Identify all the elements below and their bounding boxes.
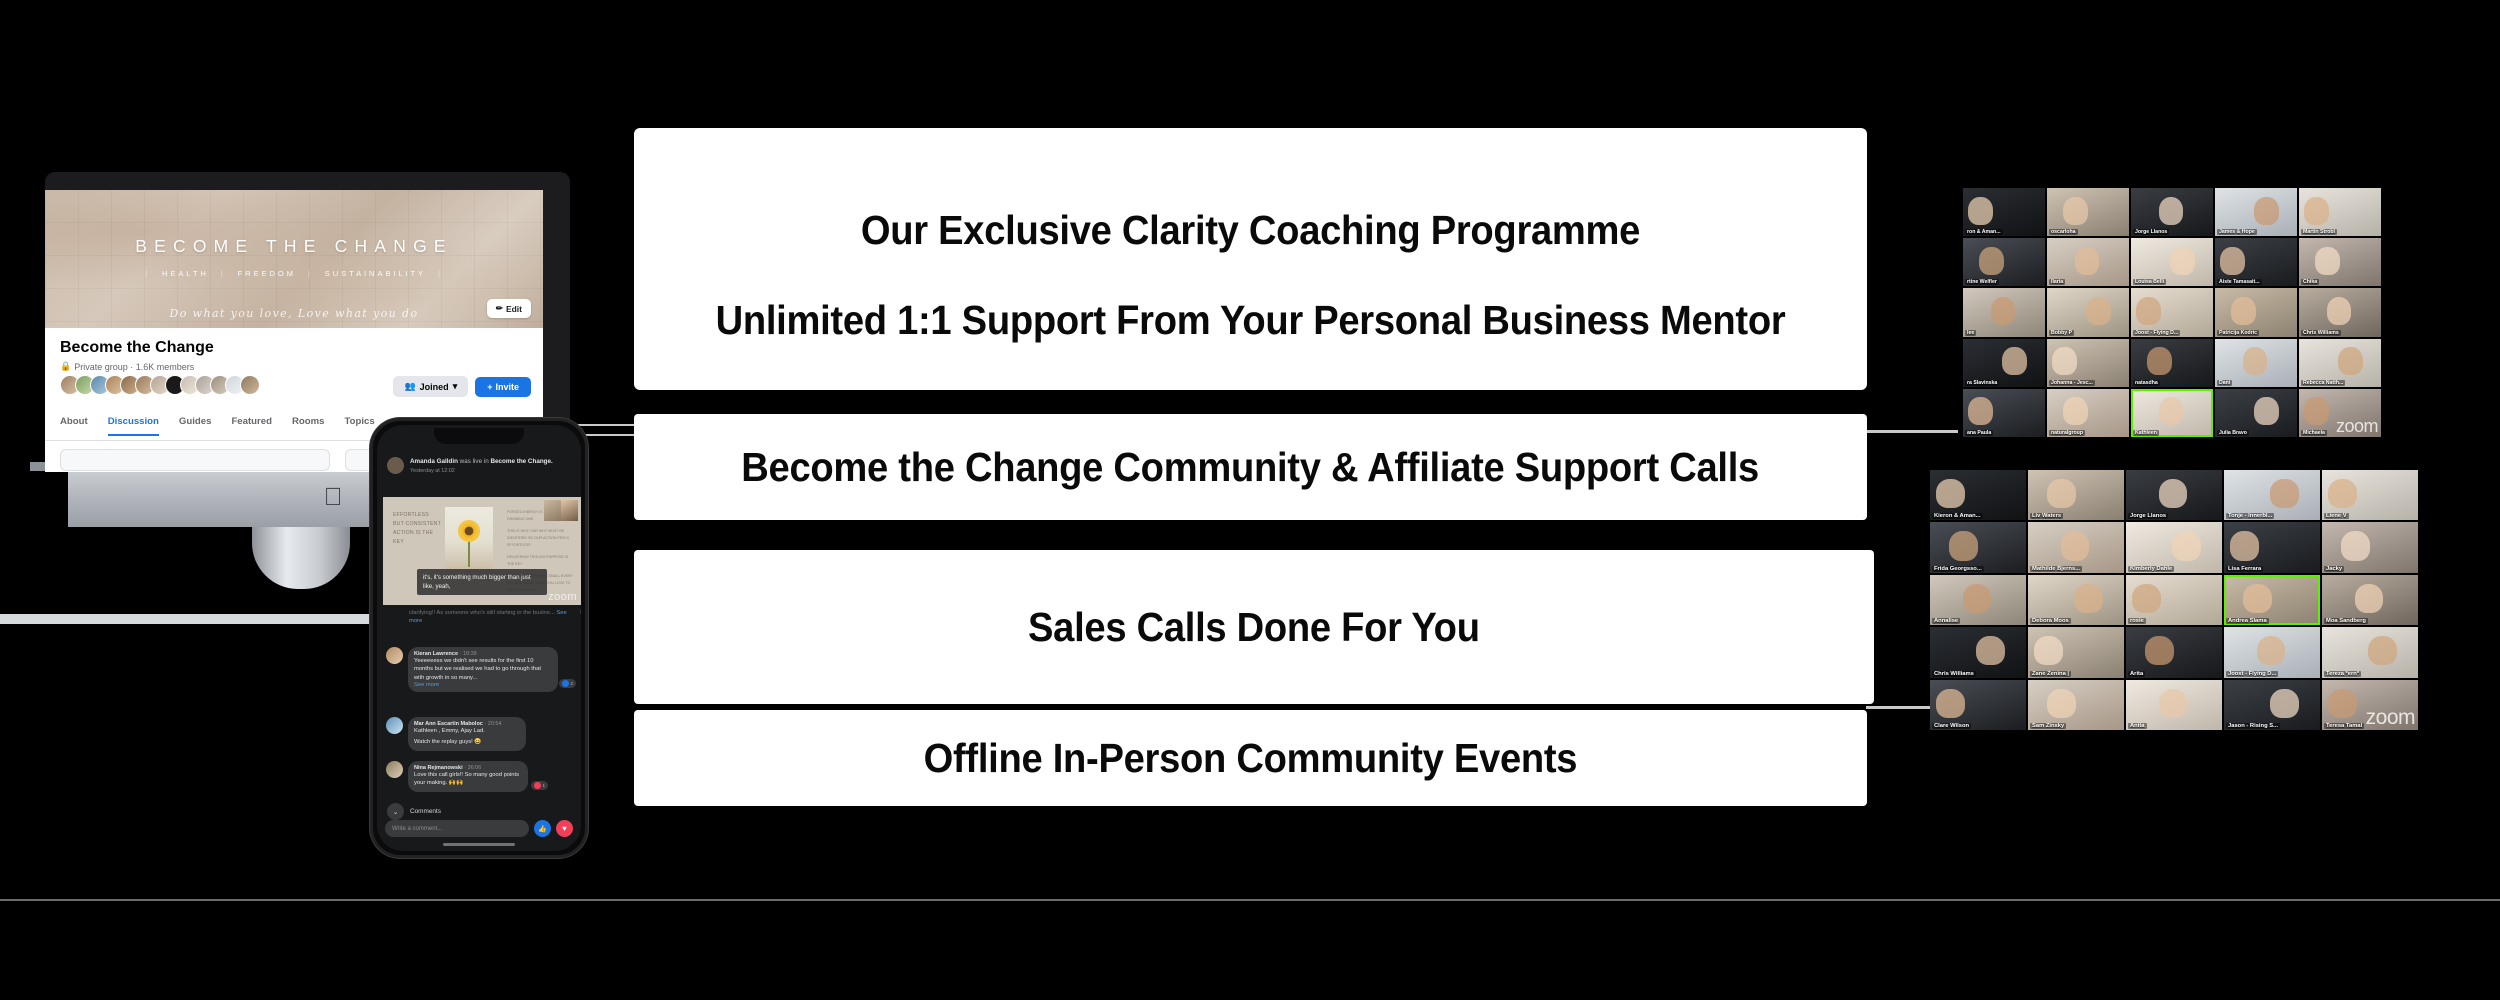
participant-silhouette [2159,689,2188,718]
heart-reaction-icon [534,782,541,789]
zoom-call-grid-bottom[interactable]: Kieron & Aman...Liv WatersJorge LlanosTo… [1930,470,2418,730]
slide-headline: EFFORTLESS BUT CONSISTENT ACTION IS THE … [393,511,441,547]
zoom-participant-tile[interactable]: Joost - Flying D... [2224,627,2320,677]
participant-name: lee [1965,330,1976,336]
participant-name: Frida Georgsso... [1932,566,1984,572]
participant-name: Lisa Ferrara [2226,566,2263,572]
post-author-name[interactable]: Amanda Galldin [410,458,458,465]
zoom-participant-tile[interactable]: Patricija Kodric [2215,288,2297,336]
comments-label: Comments [410,808,441,815]
comment-text: clarifying!! As someone who's still star… [409,609,575,626]
zoom-participant-tile[interactable]: Ilaria [2047,238,2129,286]
participant-name: Patricija Kodric [2217,330,2259,336]
like-reaction-icon [562,680,569,687]
participant-silhouette [2145,636,2174,665]
list-item: Kieran Lawrence · 18:38 Yeeeeeess we did… [386,647,558,692]
participant-silhouette [2338,347,2363,375]
participant-silhouette [2368,636,2397,665]
participant-silhouette [2270,479,2299,508]
participant-silhouette [2328,479,2357,508]
reaction-count: 2 [570,681,573,686]
post-action-text: was live in [458,458,491,465]
video-caption: it's, it's something much bigger than ju… [417,569,547,595]
zoom-participant-tile[interactable]: Mathilde Bjerns... [2028,522,2124,572]
participant-silhouette [2063,397,2088,425]
participant-silhouette [2002,347,2027,375]
cover-edit-button[interactable]: ✏ Edit [487,299,531,318]
zoom-participant-tile[interactable]: Tonje - Innerbl... [2224,470,2320,520]
zoom-participant-tile[interactable]: Martin Strobl [2299,188,2381,236]
participant-silhouette [2270,689,2299,718]
post-group-name[interactable]: Become the Change. [490,458,552,465]
zoom-participant-tile[interactable]: Chris Williams [1930,627,2026,677]
participant-name: Chika [2301,279,2319,285]
zoom-participant-tile[interactable]: Zane Zenina | [2028,627,2124,677]
participant-silhouette [2159,397,2184,425]
participant-name: Teresa Tamal [2324,723,2364,729]
zoom-participant-tile[interactable]: Andrea Slama [2224,575,2320,625]
participant-silhouette [2034,636,2063,665]
zoom-participant-tile[interactable]: Joost - Flying D... [2131,288,2213,336]
people-icon: 👥 [404,381,415,392]
participant-silhouette [2243,584,2272,613]
reaction-pill[interactable]: 6 [580,607,581,616]
participant-name: rtine Welfler [1965,279,1999,285]
pillar-sep-2: | [308,269,313,278]
participant-silhouette [2074,584,2103,613]
group-nav-tabs: About Discussion Guides Featured Rooms T… [60,416,408,436]
zoom-participant-tile[interactable]: Bobby P [2047,288,2129,336]
zoom-participant-tile[interactable]: James & Hope [2215,188,2297,236]
participant-silhouette [2304,197,2329,225]
zoom-participant-tile[interactable]: rtine Welfler [1963,238,2045,286]
participant-name: Liene V [2324,513,2349,519]
tab-about[interactable]: About [60,416,88,436]
cover-tagline: Do what you love, Love what you do [45,307,543,320]
participant-silhouette [1936,479,1965,508]
zoom-participant-tile[interactable]: Teresa Tamal [2322,680,2418,730]
edit-label: Edit [506,304,522,314]
zoom-participant-tile[interactable]: Jacky [2322,522,2418,572]
comment-bubble: Mar Ann Escartin Maboloc · 20:54 Kathlee… [408,717,526,751]
phone-screen: Amanda Galldin was live in Become the Ch… [377,425,581,851]
comment-composer-row: Write a comment... 👍 ♥ [385,820,573,837]
apple-logo-icon:  [322,485,344,511]
participant-name: Chris Williams [2301,330,2341,336]
zoom-participant-tile[interactable]: Jorge Llanos [2131,188,2213,236]
participant-name: Michaela [2301,430,2327,436]
feature-card-title: Become the Change Community & Affiliate … [742,444,1760,491]
zoom-participant-tile[interactable]: Liv Waters [2028,470,2124,520]
participant-silhouette [1976,636,2005,665]
group-name: Become the Change [60,339,214,357]
zoom-participant-tile[interactable]: Sam Zinsky [2028,680,2124,730]
zoom-participant-tile[interactable]: Clare Wilson [1930,680,2026,730]
slide-bullet-2: DELIVERING TROUGH PURPOSE IS THE KEY [507,554,573,568]
participant-name: Liv Waters [2030,513,2063,519]
participant-silhouette [2315,247,2340,275]
participant-name: Aiste Tamasait... [2217,279,2262,285]
participant-silhouette [1968,397,1993,425]
avatar[interactable] [386,647,403,664]
participant-name: Clare Wilson [1932,723,1971,729]
chevron-down-icon: ⌄ [387,803,404,820]
pillar-sep-0: | [145,269,150,278]
pillar-sustainability: SUSTAINABILITY [325,269,426,278]
participant-silhouette [2047,689,2076,718]
zoom-participant-tile[interactable]: Kieron & Aman... [1930,470,2026,520]
joined-button[interactable]: 👥 Joined ▾ [393,376,468,397]
participant-name: Martin Strobl [2301,229,2337,235]
participant-silhouette [2328,689,2357,718]
participant-silhouette [2327,297,2352,325]
participant-silhouette [2231,297,2256,325]
participant-silhouette [2159,197,2184,225]
participant-name: Rebecca Natth... [2301,380,2345,386]
participant-name: ron & Aman... [1965,229,2003,235]
feature-card-offline-events[interactable]: Offline In-Person Community Events [634,710,1867,806]
participant-silhouette [2086,297,2111,325]
group-meta-text: Private group · 1.6K members [74,362,194,372]
group-meta: 🔒 Private group · 1.6K members [60,361,194,372]
pillar-sep-3: | [438,269,443,278]
participant-silhouette [2147,347,2172,375]
zoom-participant-tile[interactable]: rosie [2126,575,2222,625]
participant-silhouette [1979,247,2004,275]
see-more-link[interactable]: See more [414,682,552,688]
list-item: Nina Rejmanowski · 36:06 Love this call … [386,761,528,792]
post-author-avatar[interactable] [387,457,404,474]
imac-base-shelf [0,614,400,624]
live-video-player[interactable]: EFFORTLESS BUT CONSISTENT ACTION IS THE … [383,497,581,605]
reaction-count: 1 [542,783,545,788]
participant-silhouette [2132,584,2161,613]
comment-bubble: Nina Rejmanowski · 36:06 Love this call … [408,761,528,792]
participant-silhouette [2063,197,2088,225]
zoom-participant-tile[interactable]: Liene V [2322,470,2418,520]
zoom-participant-tile[interactable]: ra Slavinska [1963,339,2045,387]
zoom-participant-tile[interactable]: Debora Moos [2028,575,2124,625]
zoom-participant-tile[interactable]: Aiste Tamasait... [2215,238,2297,286]
participant-silhouette [1968,197,1993,225]
participant-name: Andrea Slama [2226,618,2269,624]
participant-name: James & Hope [2217,229,2257,235]
comment-text-line1: clarifying!! As someone who's [409,610,485,616]
feature-card-title: Offline In-Person Community Events [924,735,1578,782]
feature-card-title: Our Exclusive Clarity Coaching Programme [677,207,1824,254]
zoom-participant-tile[interactable]: lee [1963,288,2045,336]
participant-name: Jacky [2324,566,2344,572]
participant-silhouette [2136,297,2161,325]
feature-card-clarity-and-mentor[interactable]: Our Exclusive Clarity Coaching Programme… [634,128,1867,390]
participant-name: Chris Williams [1932,671,1976,677]
zoom-participant-tile[interactable]: Anita [2126,680,2222,730]
pillar-sep-1: | [221,269,226,278]
tab-discussion[interactable]: Discussion [108,416,159,436]
feature-card-sales-calls[interactable]: Sales Calls Done For You [634,550,1874,704]
pillar-health: HEALTH [162,269,209,278]
post-byline: Amanda Galldin was live in Become the Ch… [410,457,553,466]
zoom-call-grid-top[interactable]: ron & Aman...oscarlohaJorge LlanosJames … [1963,188,2381,437]
home-indicator [443,843,515,846]
tab-featured[interactable]: Featured [231,416,272,436]
zoom-participant-tile[interactable]: naturalgroup [2047,389,2129,437]
participant-name: Dani [2217,380,2232,386]
comment-text: Kathleen , Emmy, Ajay Lad. [414,727,520,735]
participant-name: Zane Zenina | [2030,671,2071,677]
participant-name: Tereza *ern* [2324,671,2361,677]
participant-name: Ilaria [2049,279,2065,285]
participant-name: Sam Zinsky [2030,723,2066,729]
participant-name: Kimberly Dahle [2128,566,2174,572]
participant-name: rosie [2128,618,2146,624]
slide-image [445,507,493,569]
comment-text: Love this call girls!! So many good poin… [414,771,522,788]
flower-stem [468,539,470,567]
feature-card-title: Sales Calls Done For You [1028,604,1480,651]
zoom-participant-tile[interactable]: Chris Williams [2299,288,2381,336]
lock-icon: 🔒 [60,361,71,372]
zoom-participant-tile[interactable]: Rebecca Natth... [2299,339,2381,387]
participant-silhouette [2047,479,2076,508]
participant-name: Jorge Llanos [2133,229,2169,235]
participant-name: natasdha [2133,380,2160,386]
invite-label: Invite [495,382,519,392]
chevron-down-icon: ▾ [453,381,458,392]
participant-name: Annalise [1932,618,1960,624]
phone-post-header: Amanda Galldin was live in Become the Ch… [387,457,571,474]
participant-silhouette [2159,479,2188,508]
participant-silhouette [2341,531,2370,560]
zoom-participant-tile[interactable]: Dani [2215,339,2297,387]
zoom-participant-tile[interactable]: Arita [2126,627,2222,677]
participant-name: Joost - Flying D... [2133,330,2180,336]
connector-line-right-a [1866,430,1958,433]
zoom-participant-tile[interactable]: natasdha [2131,339,2213,387]
post-composer[interactable] [60,449,330,471]
avatar[interactable] [386,761,403,778]
zoom-participant-tile[interactable]: Johanna - Jesc... [2047,339,2129,387]
participant-name: Moa Sandberg [2324,618,2368,624]
zoom-participant-tile[interactable]: Kimberly Dahle [2126,522,2222,572]
comment-bubble: clarifying!! As someone who's still star… [409,609,575,626]
phone-mockup: Amanda Galldin was live in Become the Ch… [370,418,588,858]
participant-name: Kathleen [2133,430,2159,436]
participant-silhouette [2220,247,2245,275]
participant-name: Jason - Rising S... [2226,723,2280,729]
participant-name: Jorge Llanos [2128,513,2168,519]
avatar[interactable] [386,717,403,734]
zoom-participant-tile[interactable]: Julia Bravo [2215,389,2297,437]
tab-rooms[interactable]: Rooms [292,416,325,436]
comment-bubble: Kieran Lawrence · 18:38 Yeeeeeess we did… [408,647,558,692]
participant-silhouette [2243,347,2268,375]
participant-name: Louisa Belli [2133,279,2166,285]
zoom-participant-tile[interactable]: Moa Sandberg [2322,575,2418,625]
participant-name: Arita [2128,671,2145,677]
zoom-participant-tile[interactable]: ron & Aman... [1963,188,2045,236]
zoom-participant-tile[interactable]: Tereza *ern* [2322,627,2418,677]
participant-name: Tonje - Innerbl... [2226,513,2274,519]
reaction-pill[interactable]: 2 [559,679,576,688]
phone-notch [434,428,524,444]
participant-name: Joost - Flying D... [2226,671,2278,677]
participant-name: Bobby P [2049,330,2074,336]
avatar [240,375,260,395]
participant-silhouette [2052,347,2077,375]
participant-name: ana Paula [1965,430,1993,436]
pillar-freedom: FREEDOM [238,269,296,278]
zoom-participant-tile[interactable]: Michaela [2299,389,2381,437]
comment-input[interactable]: Write a comment... [385,820,529,837]
presenter-pip [544,500,578,521]
participant-name: Mathilde Bjerns... [2030,566,2082,572]
zoom-participant-tile[interactable]: oscarloha [2047,188,2129,236]
participant-silhouette [2254,197,2279,225]
participant-silhouette [2230,531,2259,560]
participant-silhouette [2355,584,2384,613]
participant-name: Debora Moos [2030,618,2071,624]
tab-guides[interactable]: Guides [179,416,212,436]
joined-label: Joined [420,382,449,392]
phone-frame: Amanda Galldin was live in Become the Ch… [370,418,588,858]
zoom-watermark: zoom [548,591,577,603]
baseline-divider [0,899,2500,901]
feature-card-title: Unlimited 1:1 Support From Your Personal… [677,297,1824,344]
reaction-pill[interactable]: 1 [531,781,548,790]
zoom-participant-tile[interactable]: Kathleen [2131,389,2213,437]
participant-silhouette [2170,247,2195,275]
zoom-participant-tile[interactable]: Chika [2299,238,2381,286]
list-item: Mar Ann Escartin Maboloc · 20:54 Kathlee… [386,717,526,751]
pencil-icon: ✏ [496,303,503,314]
participant-name: Julia Bravo [2217,430,2249,436]
zoom-participant-tile[interactable]: Jorge Llanos [2126,470,2222,520]
group-action-buttons: 👥 Joined ▾ + Invite [393,376,531,397]
post-timestamp: Yesterday at 12:02 [410,468,553,474]
comment-time: · 20:54 [484,721,501,727]
facebook-group-cover: BECOME THE CHANGE |HEALTH|FREEDOM|SUSTAI… [45,190,543,328]
participant-name: Anita [2128,723,2147,729]
comments-toggle[interactable]: ⌄ Comments [387,803,441,820]
comment-text-line2: still starting in the busine... [486,610,554,616]
participant-silhouette [1949,531,1978,560]
list-item: clarifying!! As someone who's still star… [409,609,575,626]
zoom-participant-tile[interactable]: Louisa Belli [2131,238,2213,286]
participant-silhouette [2172,531,2201,560]
participant-silhouette [2254,397,2279,425]
participant-name: naturalgroup [2049,430,2085,436]
zoom-participant-tile[interactable]: ana Paula [1963,389,2045,437]
cover-pillars: |HEALTH|FREEDOM|SUSTAINABILITY| [45,269,543,278]
participant-name: Johanna - Jesc... [2049,380,2095,386]
participant-name: oscarloha [2049,229,2078,235]
thumbs-up-icon[interactable]: 👍 [534,820,551,837]
participant-silhouette [1991,297,2016,325]
participant-silhouette [1963,584,1992,613]
comment-text: Yeeeeeess we didn't see results for the … [414,657,552,682]
feature-card-community-calls[interactable]: Become the Change Community & Affiliate … [634,414,1867,520]
invite-button[interactable]: + Invite [475,377,531,397]
zoom-participant-tile[interactable]: Lisa Ferrara [2224,522,2320,572]
participant-name: ra Slavinska [1965,380,1999,386]
cover-title: BECOME THE CHANGE [45,236,543,257]
member-avatars[interactable] [60,375,260,395]
participant-silhouette [2304,397,2329,425]
participant-silhouette [2075,247,2100,275]
sunflower-icon [458,520,480,542]
participant-silhouette [1936,689,1965,718]
participant-silhouette [2257,636,2286,665]
imac-stand [252,527,350,589]
promo-graphic-canvas: BECOME THE CHANGE |HEALTH|FREEDOM|SUSTAI… [0,0,2500,1000]
zoom-participant-tile[interactable]: Jason - Rising S... [2224,680,2320,730]
participant-name: Kieron & Aman... [1932,513,1983,519]
zoom-participant-tile[interactable]: Frida Georgsso... [1930,522,2026,572]
slide-bullet-1: THIS IS WHY OUR WHY MUST BE IDENTIFIED S… [507,528,573,549]
heart-icon[interactable]: ♥ [556,820,573,837]
plus-icon: + [487,382,492,392]
zoom-participant-tile[interactable]: Annalise [1930,575,2026,625]
comment-text-2: Watch the replay guys! 😄 [414,738,520,746]
participant-silhouette [2061,531,2090,560]
